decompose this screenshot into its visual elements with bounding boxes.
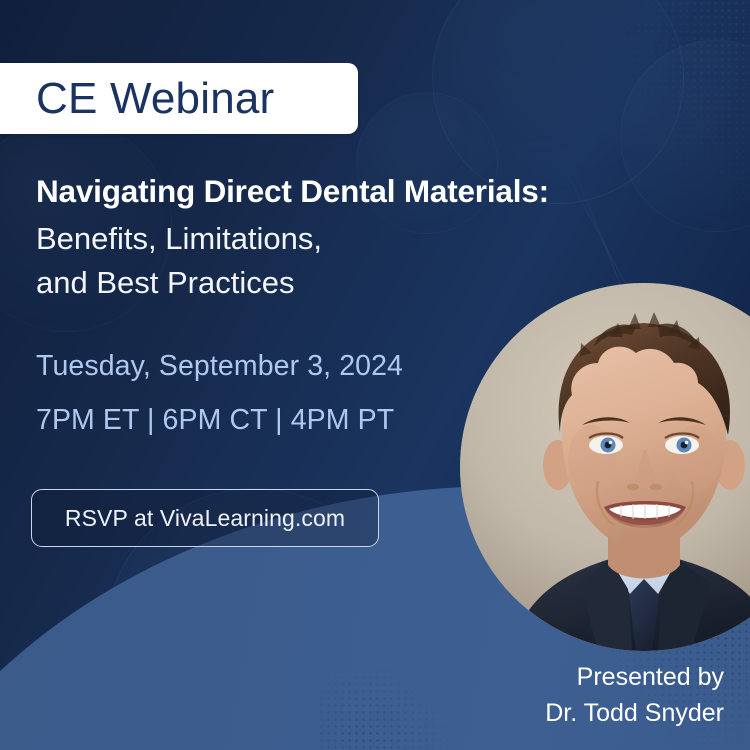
presenter-name: Dr. Todd Snyder bbox=[545, 696, 724, 732]
headline-subtitle-line-2: and Best Practices bbox=[36, 261, 726, 305]
schedule-block: Tuesday, September 3, 2024 7PM ET | 6PM … bbox=[36, 352, 403, 434]
ce-webinar-badge: CE Webinar bbox=[0, 63, 358, 134]
presented-by-label: Presented by bbox=[545, 660, 724, 696]
headline-subtitle-line-1: Benefits, Limitations, bbox=[36, 217, 726, 261]
webinar-date: Tuesday, September 3, 2024 bbox=[36, 352, 403, 381]
rsvp-button[interactable]: RSVP at VivaLearning.com bbox=[31, 489, 379, 547]
headline-title: Navigating Direct Dental Materials: bbox=[36, 173, 726, 210]
webinar-promo-poster: CE Webinar Navigating Direct Dental Mate… bbox=[0, 0, 750, 750]
headline-block: Navigating Direct Dental Materials: Bene… bbox=[36, 173, 726, 305]
webinar-times: 7PM ET | 6PM CT | 4PM PT bbox=[36, 406, 403, 435]
headline-subtitle: Benefits, Limitations, and Best Practice… bbox=[36, 217, 726, 305]
ce-webinar-badge-label: CE Webinar bbox=[36, 77, 274, 121]
rsvp-button-label: RSVP at VivaLearning.com bbox=[65, 505, 345, 532]
presenter-credit: Presented by Dr. Todd Snyder bbox=[545, 660, 724, 731]
halftone-dot-field bbox=[318, 660, 458, 750]
portrait-clip bbox=[460, 283, 750, 651]
headshot-photo bbox=[460, 283, 750, 651]
presenter-portrait bbox=[460, 283, 750, 651]
